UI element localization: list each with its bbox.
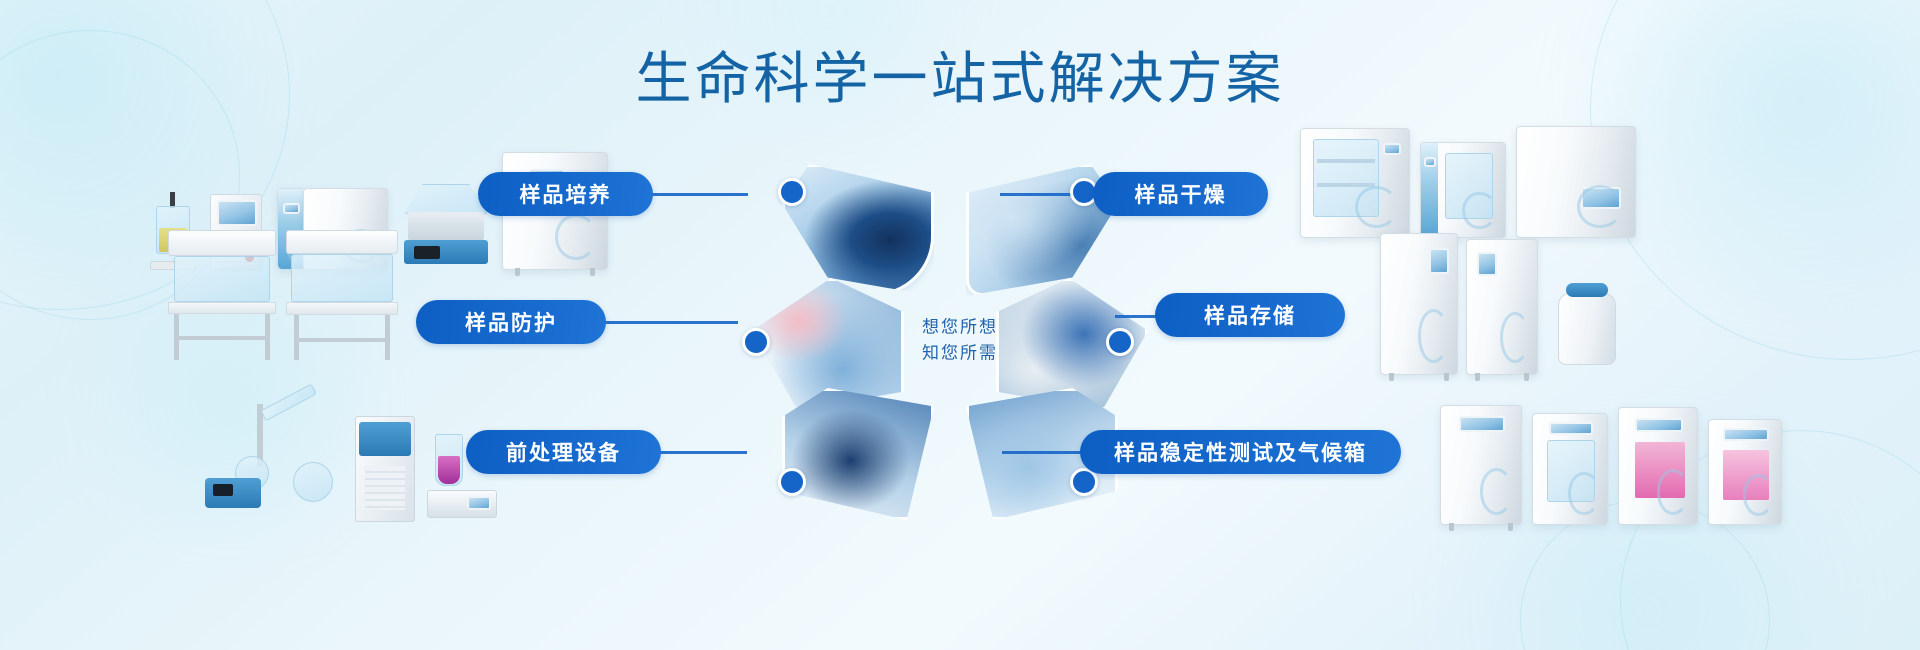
hub-center-slogan: 想您所想 知您所需 bbox=[922, 315, 998, 366]
laboratory-photo bbox=[785, 391, 931, 517]
rotary-evaporator bbox=[205, 404, 345, 522]
stability-chamber-2 bbox=[1532, 413, 1608, 525]
forced-air-oven bbox=[1420, 142, 1506, 238]
biosafety-cabinet bbox=[286, 230, 398, 360]
climate-chamber bbox=[1618, 407, 1698, 525]
hub-dot-storage[interactable] bbox=[1106, 328, 1134, 356]
cryogenic-dewar bbox=[1558, 283, 1616, 365]
label-pretreatment[interactable]: 前处理设备 bbox=[466, 430, 661, 474]
hub-petal-sample-cultivation[interactable] bbox=[782, 164, 934, 296]
connector-line-stability bbox=[1002, 451, 1087, 454]
page-title: 生命科学一站式解决方案 bbox=[0, 34, 1920, 115]
microscope-photo bbox=[785, 167, 931, 293]
slogan-line-2: 知您所需 bbox=[922, 340, 998, 366]
label-sample-drying[interactable]: 样品干燥 bbox=[1093, 172, 1268, 216]
label-stability-climate[interactable]: 样品稳定性测试及气候箱 bbox=[1080, 430, 1401, 474]
label-sample-storage[interactable]: 样品存储 bbox=[1155, 293, 1345, 337]
connector-line-protection bbox=[598, 321, 738, 324]
equipment-group-storage bbox=[1380, 230, 1800, 375]
label-sample-protection[interactable]: 样品防护 bbox=[416, 300, 606, 344]
equipment-group-drying bbox=[1300, 108, 1720, 238]
connector-line-pretreatment bbox=[652, 451, 747, 454]
hub-dot-protection[interactable] bbox=[742, 328, 770, 356]
vacuum-drying-oven bbox=[1300, 128, 1410, 238]
connector-line-cultivation bbox=[648, 193, 748, 196]
equipment-group-protection bbox=[168, 228, 418, 360]
equipment-group-stability bbox=[1440, 395, 1880, 525]
hub-dot-pretreatment[interactable] bbox=[778, 468, 806, 496]
laminar-flow-hood bbox=[168, 230, 276, 360]
slogan-line-1: 想您所想 bbox=[922, 315, 998, 341]
chiller-circulator bbox=[355, 416, 415, 522]
ultra-low-freezer bbox=[1380, 233, 1458, 375]
hub-petal-pretreatment[interactable] bbox=[782, 388, 934, 520]
stability-chamber-1 bbox=[1440, 405, 1522, 525]
test-chamber bbox=[1708, 419, 1782, 525]
drying-chamber bbox=[1516, 126, 1636, 238]
label-sample-cultivation[interactable]: 样品培养 bbox=[478, 172, 653, 216]
upright-freezer bbox=[1466, 239, 1538, 375]
hub-dot-cultivation[interactable] bbox=[778, 178, 806, 206]
